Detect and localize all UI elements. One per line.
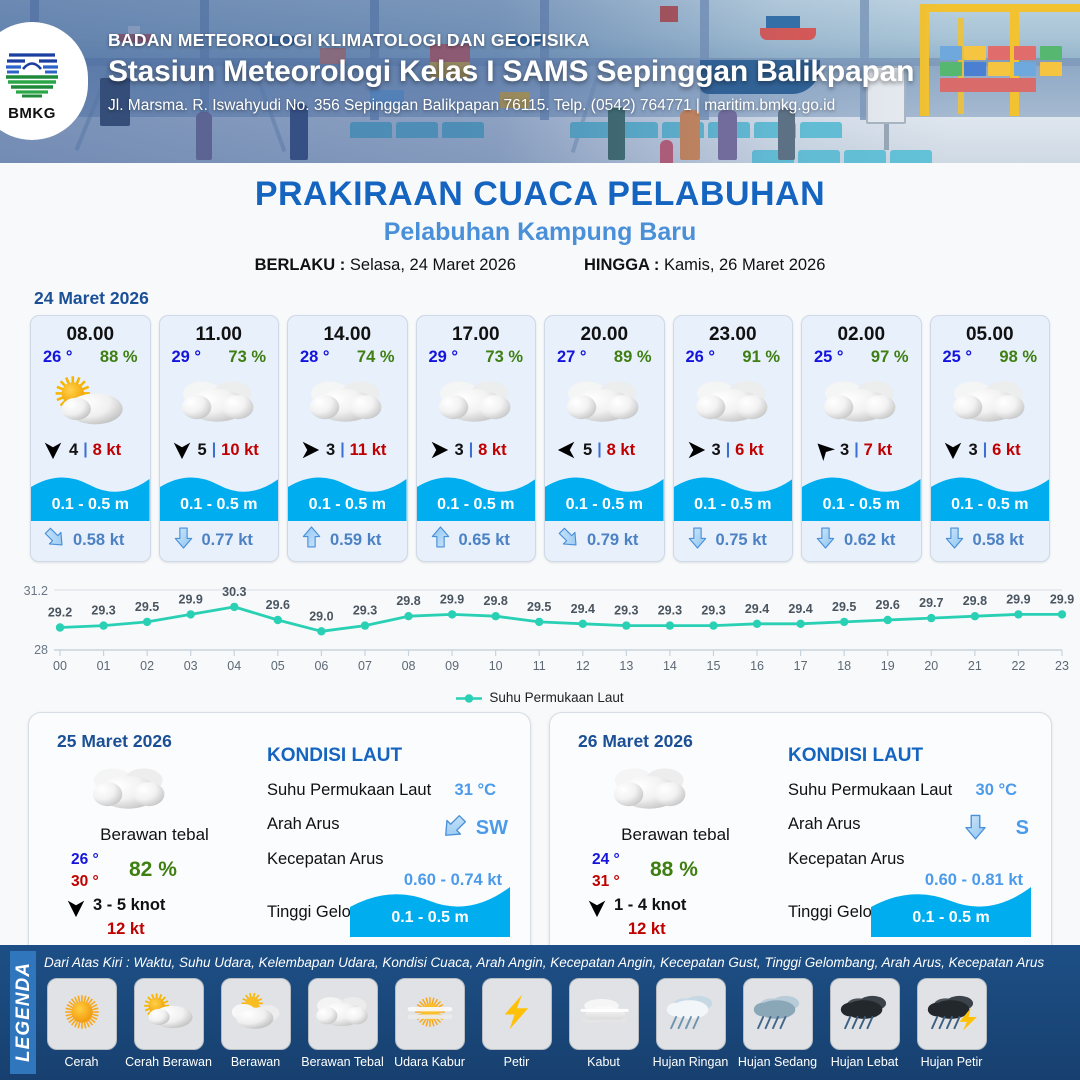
card-humidity: 89 %	[614, 348, 652, 367]
legend-item: Hujan Sedang	[736, 978, 819, 1069]
card-wave-height: 0.1 - 0.5 m	[674, 496, 793, 514]
card-wave-band: 0.1 - 0.5 m	[674, 467, 793, 521]
legend-note: Dari Atas Kiri : Waktu, Suhu Udara, Kele…	[44, 955, 1044, 970]
legend-item-label: Hujan Ringan	[653, 1055, 729, 1069]
card-gust-speed: 6 kt	[992, 441, 1020, 460]
card-temperature: 26 °	[43, 348, 73, 367]
card-wave-band: 0.1 - 0.5 m	[417, 467, 536, 521]
panel-weather-icon	[87, 761, 173, 822]
card-wind-speed: 5	[198, 441, 207, 460]
card-wind-row: 3 | 8 kt	[417, 435, 536, 467]
panel-temp-min: 24 °	[592, 851, 620, 869]
legend-item-label: Hujan Lebat	[831, 1055, 898, 1069]
card-time: 05.00	[931, 316, 1050, 346]
card-separator: |	[854, 441, 858, 459]
wind-direction-arrow-icon	[171, 439, 193, 461]
card-wind-row: 5 | 8 kt	[545, 435, 664, 467]
card-humidity: 74 %	[357, 348, 395, 367]
card-current-row: 0.75 kt	[674, 521, 793, 561]
wind-direction-arrow-icon	[428, 439, 450, 461]
card-temp-humidity-row: 29 ° 73 %	[417, 346, 536, 367]
card-current-row: 0.79 kt	[545, 521, 664, 561]
legend-item: Petir	[475, 978, 558, 1069]
svg-text:31.2: 31.2	[24, 584, 48, 598]
legend-icon-box	[47, 978, 117, 1050]
thunderstorm-icon	[921, 986, 983, 1043]
panel-current-dir-label: Arah Arus	[267, 815, 339, 834]
svg-text:16: 16	[750, 659, 764, 673]
card-separator: |	[597, 441, 601, 459]
card-weather-icon	[31, 369, 150, 435]
current-direction-arrow-icon	[686, 526, 709, 554]
card-time: 20.00	[545, 316, 664, 346]
wind-direction-arrow-icon	[942, 439, 964, 461]
card-separator: |	[726, 441, 730, 459]
legend-item-label: Kabut	[587, 1055, 620, 1069]
heavy-rain-icon	[834, 986, 896, 1043]
svg-text:06: 06	[314, 659, 328, 673]
card-weather-icon	[545, 369, 664, 435]
card-wind-speed: 3	[969, 441, 978, 460]
card-current-speed: 0.59 kt	[330, 531, 381, 550]
agency-name: BADAN METEOROLOGI KLIMATOLOGI DAN GEOFIS…	[108, 30, 914, 51]
legend-items-row: Cerah Cerah Berawan Berawan	[40, 978, 1080, 1069]
card-wind-speed: 3	[455, 441, 464, 460]
hourly-forecast-card: 23.00 26 ° 91 % 3 | 6 kt 0.1	[673, 315, 794, 562]
haze-icon	[399, 986, 461, 1043]
card-temperature: 29 °	[172, 348, 202, 367]
svg-text:29.5: 29.5	[832, 600, 856, 614]
card-weather-icon	[802, 369, 921, 435]
card-temp-humidity-row: 25 ° 98 %	[931, 346, 1050, 367]
card-wind-speed: 4	[69, 441, 78, 460]
card-wind-row: 3 | 11 kt	[288, 435, 407, 467]
svg-text:18: 18	[837, 659, 851, 673]
svg-text:23: 23	[1055, 659, 1069, 673]
card-current-row: 0.58 kt	[931, 521, 1050, 561]
svg-text:29.8: 29.8	[484, 594, 508, 608]
panel-humidity: 88 %	[650, 858, 698, 882]
card-current-speed: 0.58 kt	[73, 531, 124, 550]
card-wind-speed: 3	[840, 441, 849, 460]
current-direction-arrow-icon	[43, 526, 66, 554]
legend-icon-box	[743, 978, 813, 1050]
card-wind-row: 4 | 8 kt	[31, 435, 150, 467]
legend-item: Cerah	[40, 978, 123, 1069]
card-temperature: 25 °	[943, 348, 973, 367]
legend-icon-box	[830, 978, 900, 1050]
card-gust-speed: 10 kt	[221, 441, 259, 460]
card-wind-speed: 5	[583, 441, 592, 460]
sst-chart-svg: 31.2280001020304050607080910111213141516…	[0, 574, 1080, 692]
valid-until: HINGGA : Kamis, 26 Maret 2026	[584, 256, 825, 275]
legend-item: Berawan	[214, 978, 297, 1069]
svg-text:30.3: 30.3	[222, 585, 246, 599]
current-direction-arrow-icon	[814, 526, 837, 554]
card-wave-height: 0.1 - 0.5 m	[288, 496, 407, 514]
card-wave-height: 0.1 - 0.5 m	[31, 496, 150, 514]
hourly-forecast-card: 05.00 25 ° 98 % 3 | 6 kt 0.1	[930, 315, 1051, 562]
legend-icon-box	[308, 978, 378, 1050]
legend-sidebar-label: LEGENDA	[13, 952, 35, 1072]
card-temp-humidity-row: 29 ° 73 %	[160, 346, 279, 367]
hourly-forecast-card: 11.00 29 ° 73 % 5 | 10 kt 0.1	[159, 315, 280, 562]
panel-current-dir-label: Arah Arus	[788, 815, 860, 834]
legend-item: Hujan Ringan	[649, 978, 732, 1069]
svg-text:03: 03	[184, 659, 198, 673]
hourly-forecast-card: 20.00 27 ° 89 % 5 | 8 kt 0.1	[544, 315, 665, 562]
panel-temp-min: 26 °	[71, 851, 99, 869]
valid-from-label: BERLAKU :	[255, 256, 346, 274]
panel-sst-value: 30 °C	[976, 781, 1017, 800]
card-temp-humidity-row: 26 ° 91 %	[674, 346, 793, 367]
svg-text:07: 07	[358, 659, 372, 673]
card-gust-speed: 11 kt	[350, 441, 387, 460]
panel-date: 25 Maret 2026	[57, 731, 172, 752]
card-current-row: 0.59 kt	[288, 521, 407, 561]
fog-icon	[573, 986, 635, 1043]
page-header: BMKG BADAN METEOROLOGI KLIMATOLOGI DAN G…	[0, 0, 1080, 163]
legend-item: Hujan Petir	[910, 978, 993, 1069]
panel-sst-value: 31 °C	[455, 781, 496, 800]
card-wave-band: 0.1 - 0.5 m	[931, 467, 1050, 521]
card-wind-row: 3 | 7 kt	[802, 435, 921, 467]
legend-item-label: Cerah Berawan	[125, 1055, 212, 1069]
card-current-speed: 0.62 kt	[844, 531, 895, 550]
card-wind-row: 3 | 6 kt	[674, 435, 793, 467]
daily-forecast-panels: 25 Maret 2026 Berawan tebal 26 ° 30 ° 82…	[0, 712, 1080, 960]
legend-icon-box	[482, 978, 552, 1050]
panel-humidity: 82 %	[129, 858, 177, 882]
svg-text:08: 08	[402, 659, 416, 673]
card-gust-speed: 8 kt	[93, 441, 121, 460]
station-name: Stasiun Meteorologi Kelas I SAMS Sepingg…	[108, 55, 914, 89]
svg-text:29.4: 29.4	[788, 602, 812, 616]
panel-gust: 12 kt	[107, 920, 145, 939]
current-direction-arrow-icon	[300, 526, 323, 554]
current-direction-arrow-icon	[557, 526, 580, 554]
panel-sst-label: Suhu Permukaan Laut	[267, 781, 431, 800]
panel-current-speed-label: Kecepatan Arus	[267, 850, 384, 869]
panel-wind-direction-arrow-icon	[586, 897, 610, 917]
svg-text:29.9: 29.9	[1050, 592, 1074, 606]
svg-text:29.3: 29.3	[353, 604, 377, 618]
hourly-forecast-card: 02.00 25 ° 97 % 3 | 7 kt 0.1	[801, 315, 922, 562]
card-humidity: 97 %	[871, 348, 909, 367]
svg-text:05: 05	[271, 659, 285, 673]
panel-current-speed-label: Kecepatan Arus	[788, 850, 905, 869]
svg-text:29.4: 29.4	[571, 602, 595, 616]
card-gust-speed: 8 kt	[478, 441, 506, 460]
svg-text:29.5: 29.5	[135, 600, 159, 614]
legend-icon-box	[134, 978, 204, 1050]
svg-text:29.9: 29.9	[440, 592, 464, 606]
card-current-speed: 0.77 kt	[202, 531, 253, 550]
legend-item: Berawan Tebal	[301, 978, 384, 1069]
svg-text:29.0: 29.0	[309, 609, 333, 623]
svg-text:29.8: 29.8	[963, 594, 987, 608]
panel-temp-max: 30 °	[71, 873, 99, 891]
light-rain-icon	[660, 986, 722, 1043]
hourly-date-heading: 24 Maret 2026	[34, 288, 1080, 309]
card-wave-height: 0.1 - 0.5 m	[802, 496, 921, 514]
card-temperature: 26 °	[686, 348, 716, 367]
card-current-speed: 0.65 kt	[459, 531, 510, 550]
svg-text:12: 12	[576, 659, 590, 673]
card-weather-icon	[160, 369, 279, 435]
svg-text:29.7: 29.7	[919, 596, 943, 610]
card-current-row: 0.65 kt	[417, 521, 536, 561]
legend-item-label: Cerah	[64, 1055, 98, 1069]
valid-from-value: Selasa, 24 Maret 2026	[350, 256, 516, 274]
card-separator: |	[340, 441, 344, 459]
legend-sidebar: LEGENDA	[10, 951, 36, 1074]
card-weather-icon	[288, 369, 407, 435]
card-temperature: 27 °	[557, 348, 587, 367]
legend-footer: LEGENDA Dari Atas Kiri : Waktu, Suhu Uda…	[0, 945, 1080, 1080]
panel-current-dir-arrow-icon	[962, 813, 989, 845]
valid-until-label: HINGGA :	[584, 256, 659, 274]
card-gust-speed: 6 kt	[735, 441, 763, 460]
panel-date: 26 Maret 2026	[578, 731, 693, 752]
panel-temp-max: 31 °	[592, 873, 620, 891]
hourly-forecast-row: 08.00 26 ° 88 % 4 | 8 kt	[0, 315, 1080, 562]
panel-current-dir-value: SW	[476, 817, 508, 840]
card-wave-band: 0.1 - 0.5 m	[545, 467, 664, 521]
panel-sea-title: KONDISI LAUT	[788, 745, 923, 767]
card-wave-band: 0.1 - 0.5 m	[160, 467, 279, 521]
legend-item: Cerah Berawan	[127, 978, 210, 1069]
valid-from: BERLAKU : Selasa, 24 Maret 2026	[255, 256, 516, 275]
svg-text:09: 09	[445, 659, 459, 673]
card-time: 14.00	[288, 316, 407, 346]
svg-text:20: 20	[924, 659, 938, 673]
card-time: 08.00	[31, 316, 150, 346]
current-direction-arrow-icon	[429, 526, 452, 554]
svg-text:29.5: 29.5	[527, 600, 551, 614]
card-separator: |	[212, 441, 216, 459]
card-wave-band: 0.1 - 0.5 m	[802, 467, 921, 521]
panel-current-dir-arrow-icon	[441, 813, 468, 845]
wind-direction-arrow-icon	[813, 439, 835, 461]
card-temp-humidity-row: 28 ° 74 %	[288, 346, 407, 367]
card-current-row: 0.58 kt	[31, 521, 150, 561]
title-block: PRAKIRAAN CUACA PELABUHAN Pelabuhan Kamp…	[0, 163, 1080, 275]
card-time: 02.00	[802, 316, 921, 346]
hourly-forecast-card: 17.00 29 ° 73 % 3 | 8 kt 0.1	[416, 315, 537, 562]
card-weather-icon	[931, 369, 1050, 435]
svg-text:29.3: 29.3	[658, 604, 682, 618]
card-temp-humidity-row: 26 ° 88 %	[31, 346, 150, 367]
svg-text:02: 02	[140, 659, 154, 673]
legend-icon-box	[395, 978, 465, 1050]
legend-item-label: Berawan Tebal	[301, 1055, 383, 1069]
wind-direction-arrow-icon	[556, 439, 578, 461]
svg-text:29.2: 29.2	[48, 606, 72, 620]
svg-text:17: 17	[794, 659, 808, 673]
panel-current-dir-value: S	[1016, 817, 1029, 840]
card-wind-row: 3 | 6 kt	[931, 435, 1050, 467]
legend-item-label: Hujan Petir	[921, 1055, 983, 1069]
svg-text:19: 19	[881, 659, 895, 673]
legend-item: Udara Kabur	[388, 978, 471, 1069]
card-time: 11.00	[160, 316, 279, 346]
panel-condition: Berawan tebal	[568, 825, 783, 845]
svg-text:00: 00	[53, 659, 67, 673]
card-current-row: 0.62 kt	[802, 521, 921, 561]
card-weather-icon	[674, 369, 793, 435]
panel-wave-value: 0.1 - 0.5 m	[350, 909, 510, 927]
panel-wind-direction-arrow-icon	[65, 897, 89, 917]
card-time: 23.00	[674, 316, 793, 346]
legend-item-label: Petir	[504, 1055, 530, 1069]
wind-direction-arrow-icon	[685, 439, 707, 461]
card-wind-row: 5 | 10 kt	[160, 435, 279, 467]
svg-text:21: 21	[968, 659, 982, 673]
panel-gust: 12 kt	[628, 920, 666, 939]
card-current-row: 0.77 kt	[160, 521, 279, 561]
panel-wave-value: 0.1 - 0.5 m	[871, 909, 1031, 927]
card-wind-speed: 3	[712, 441, 721, 460]
valid-until-value: Kamis, 26 Maret 2026	[664, 256, 825, 274]
card-wind-speed: 3	[326, 441, 335, 460]
panel-weather-icon	[608, 761, 694, 822]
card-humidity: 98 %	[999, 348, 1037, 367]
svg-text:29.3: 29.3	[614, 604, 638, 618]
card-temperature: 25 °	[814, 348, 844, 367]
wind-direction-arrow-icon	[42, 439, 64, 461]
svg-text:22: 22	[1011, 659, 1025, 673]
card-separator: |	[83, 441, 87, 459]
sst-chart: 31.2280001020304050607080910111213141516…	[0, 574, 1080, 694]
card-temperature: 29 °	[429, 348, 459, 367]
svg-text:29.4: 29.4	[745, 602, 769, 616]
card-current-speed: 0.75 kt	[716, 531, 767, 550]
card-current-speed: 0.58 kt	[973, 531, 1024, 550]
card-temp-humidity-row: 25 ° 97 %	[802, 346, 921, 367]
svg-text:29.3: 29.3	[701, 604, 725, 618]
svg-text:01: 01	[97, 659, 111, 673]
station-address: Jl. Marsma. R. Iswahyudi No. 356 Sepingg…	[108, 97, 914, 115]
card-current-speed: 0.79 kt	[587, 531, 638, 550]
card-humidity: 73 %	[485, 348, 523, 367]
card-wave-band: 0.1 - 0.5 m	[288, 467, 407, 521]
header-text-block: BADAN METEOROLOGI KLIMATOLOGI DAN GEOFIS…	[108, 30, 914, 115]
card-wave-height: 0.1 - 0.5 m	[160, 496, 279, 514]
svg-text:11: 11	[533, 659, 546, 673]
svg-text:14: 14	[663, 659, 677, 673]
card-temperature: 28 °	[300, 348, 330, 367]
svg-text:10: 10	[489, 659, 503, 673]
card-wave-height: 0.1 - 0.5 m	[417, 496, 536, 514]
card-time: 17.00	[417, 316, 536, 346]
legend-icon-box	[917, 978, 987, 1050]
current-direction-arrow-icon	[172, 526, 195, 554]
panel-wind-range: 1 - 4 knot	[614, 896, 686, 915]
legend-item: Kabut	[562, 978, 645, 1069]
card-weather-icon	[417, 369, 536, 435]
bmkg-logo-text: BMKG	[8, 105, 56, 122]
hourly-forecast-card: 08.00 26 ° 88 % 4 | 8 kt	[30, 315, 151, 562]
card-wave-height: 0.1 - 0.5 m	[545, 496, 664, 514]
card-separator: |	[469, 441, 473, 459]
svg-text:29.3: 29.3	[91, 604, 115, 618]
lightning-icon	[486, 986, 548, 1043]
current-direction-arrow-icon	[943, 526, 966, 554]
svg-text:29.6: 29.6	[266, 598, 290, 612]
legend-item-label: Hujan Sedang	[738, 1055, 817, 1069]
card-wave-height: 0.1 - 0.5 m	[931, 496, 1050, 514]
panel-sea-title: KONDISI LAUT	[267, 745, 402, 767]
card-gust-speed: 7 kt	[864, 441, 892, 460]
legend-icon-box	[221, 978, 291, 1050]
daily-forecast-panel: 25 Maret 2026 Berawan tebal 26 ° 30 ° 82…	[28, 712, 531, 960]
panel-condition: Berawan tebal	[47, 825, 262, 845]
svg-text:04: 04	[227, 659, 241, 673]
card-humidity: 88 %	[100, 348, 138, 367]
svg-text:13: 13	[619, 659, 633, 673]
sun-behind-cloud-icon	[225, 986, 287, 1043]
legend-item-label: Berawan	[231, 1055, 280, 1069]
legend-icon-box	[569, 978, 639, 1050]
panel-wind-range: 3 - 5 knot	[93, 896, 165, 915]
card-separator: |	[983, 441, 987, 459]
card-wave-band: 0.1 - 0.5 m	[31, 467, 150, 521]
svg-text:29.9: 29.9	[179, 592, 203, 606]
svg-text:29.8: 29.8	[396, 594, 420, 608]
legend-item: Hujan Lebat	[823, 978, 906, 1069]
svg-text:15: 15	[707, 659, 721, 673]
card-temp-humidity-row: 27 ° 89 %	[545, 346, 664, 367]
card-gust-speed: 8 kt	[607, 441, 635, 460]
legend-item-label: Udara Kabur	[394, 1055, 465, 1069]
hourly-forecast-card: 14.00 28 ° 74 % 3 | 11 kt 0.1	[287, 315, 408, 562]
card-humidity: 73 %	[228, 348, 266, 367]
card-humidity: 91 %	[742, 348, 780, 367]
panel-sst-label: Suhu Permukaan Laut	[788, 781, 952, 800]
legend-marker-icon	[456, 692, 482, 703]
page-subtitle: Pelabuhan Kampung Baru	[0, 218, 1080, 247]
svg-text:29.9: 29.9	[1006, 592, 1030, 606]
legend-icon-box	[656, 978, 726, 1050]
svg-text:28: 28	[34, 643, 48, 657]
cloud-icon	[312, 986, 374, 1043]
daily-forecast-panel: 26 Maret 2026 Berawan tebal 24 ° 31 ° 88…	[549, 712, 1052, 960]
moderate-rain-icon	[747, 986, 809, 1043]
svg-text:29.6: 29.6	[876, 598, 900, 612]
bmkg-emblem-icon	[1, 41, 63, 103]
sun-icon	[51, 986, 113, 1043]
sun-cloud-icon	[138, 986, 200, 1043]
wind-direction-arrow-icon	[299, 439, 321, 461]
page-title: PRAKIRAAN CUACA PELABUHAN	[0, 175, 1080, 214]
validity-dates: BERLAKU : Selasa, 24 Maret 2026 HINGGA :…	[0, 256, 1080, 275]
